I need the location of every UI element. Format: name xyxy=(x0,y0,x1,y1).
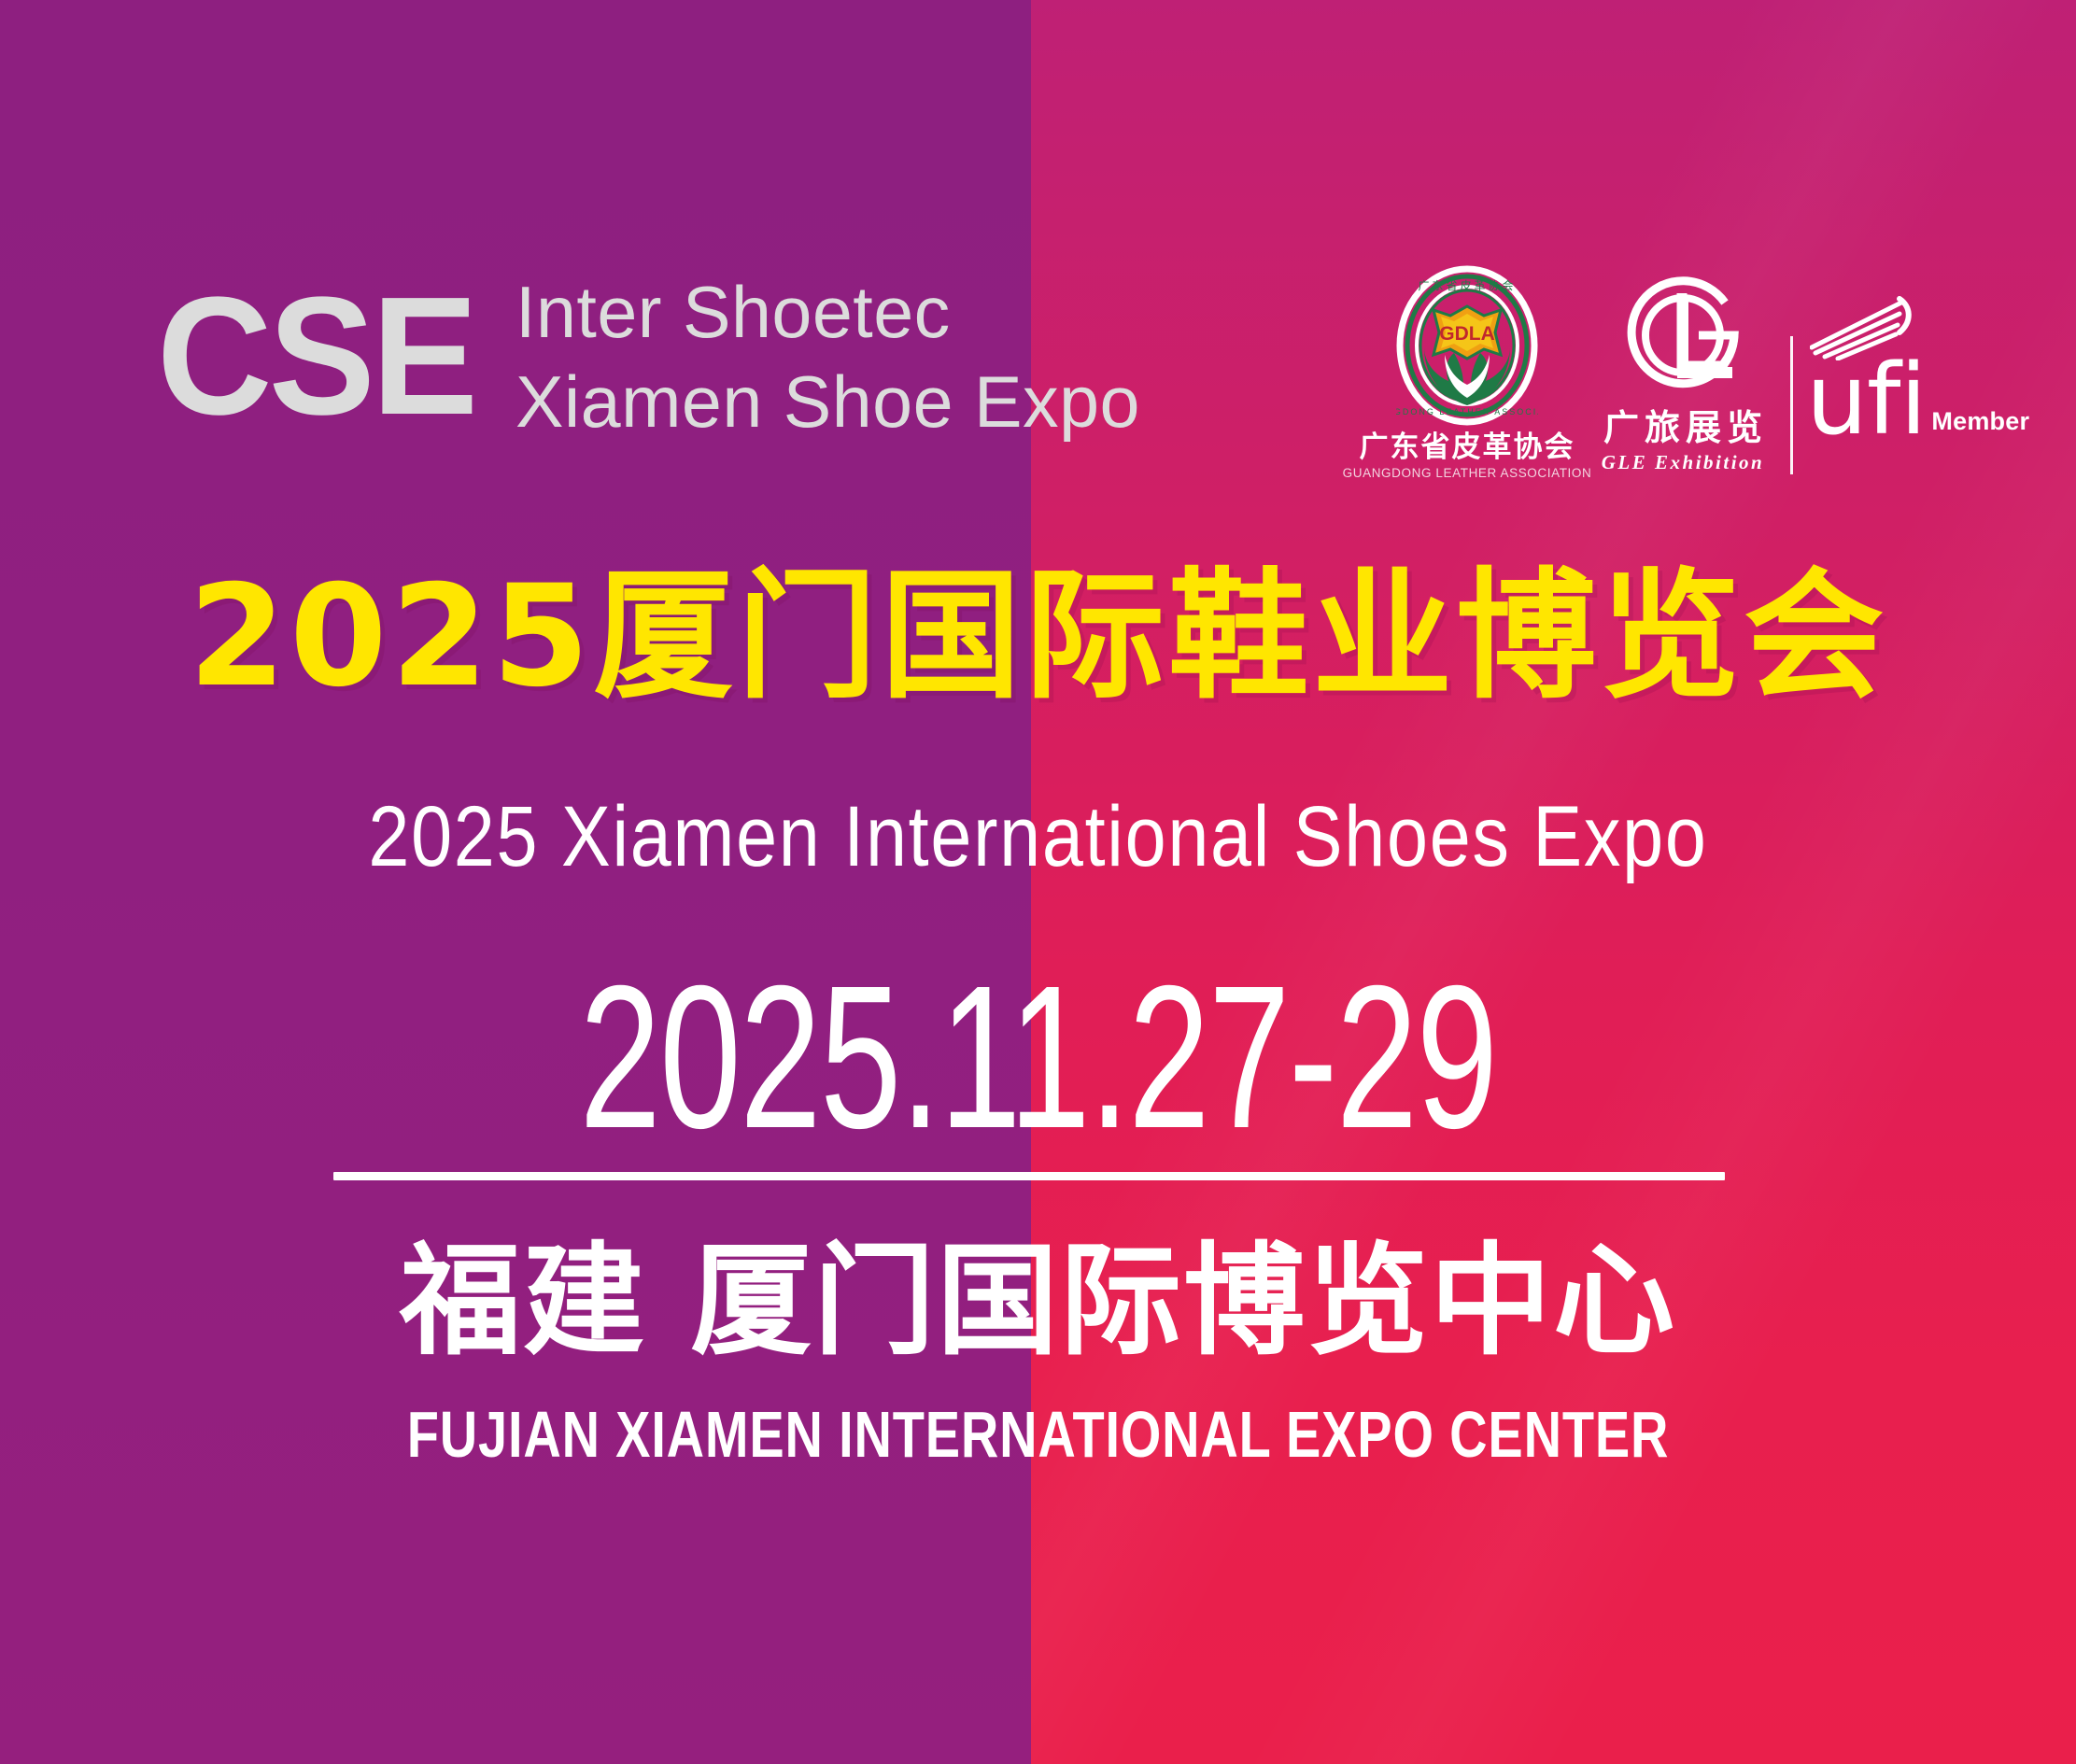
svg-text:GUANGDONG LEATHER ASSOCIATION: GUANGDONG LEATHER ASSOCIATION xyxy=(1396,407,1538,416)
cse-subtitle-line-1: Inter Shoetec xyxy=(515,267,1140,357)
header-row: CSE Inter Shoetec Xiamen Shoe Expo xyxy=(0,267,2076,491)
svg-text:GDLA: GDLA xyxy=(1439,323,1495,345)
partner-logo-cluster: GDLA 广东省皮革协会 GUANGDONG LEATHER ASSOCIATI… xyxy=(1359,265,1974,489)
cse-subtitle-line-2: Xiamen Shoe Expo xyxy=(515,357,1140,446)
ufi-wordmark: ufi xyxy=(1806,355,1926,445)
event-date: 2025.11.27-29 xyxy=(290,960,1786,1156)
ufi-wordmark-row: ufi Member xyxy=(1806,355,2029,445)
venue-name-chinese: 福建 厦门国际博览中心 xyxy=(0,1233,2076,1369)
horizontal-divider xyxy=(333,1172,1725,1180)
poster-root: CSE Inter Shoetec Xiamen Shoe Expo xyxy=(0,0,2076,1764)
gle-monogram-icon xyxy=(1613,265,1753,405)
venue-name-english: FUJIAN XIAMEN INTERNATIONAL EXPO CENTER xyxy=(207,1398,1868,1471)
gdla-chinese-name: 广东省皮革协会 xyxy=(1360,431,1575,463)
cse-wordmark: CSE xyxy=(157,273,474,441)
logo-divider xyxy=(1790,336,1793,474)
event-title-english: 2025 Xiamen International Shoes Expo xyxy=(146,788,1931,885)
cse-subtitle-group: Inter Shoetec Xiamen Shoe Expo xyxy=(515,267,1147,446)
gdla-logo: GDLA 广东省皮革协会 GUANGDONG LEATHER ASSOCIATI… xyxy=(1359,265,1575,481)
cse-logo-block: CSE Inter Shoetec Xiamen Shoe Expo xyxy=(157,267,1147,446)
gle-chinese-name: 广旅展览 xyxy=(1598,407,1768,448)
event-title-chinese: 2025厦门国际鞋业博览会 xyxy=(0,558,2076,715)
svg-text:广东省皮革协会: 广东省皮革协会 xyxy=(1418,278,1516,292)
ufi-member-label: Member xyxy=(1931,407,2029,435)
gle-english-name: GLE Exhibition xyxy=(1602,450,1764,474)
ufi-logo: ufi Member xyxy=(1806,265,1974,445)
gle-logo: 广旅展览 GLE Exhibition xyxy=(1581,265,1785,474)
gdla-seal-icon: GDLA 广东省皮革协会 GUANGDONG LEATHER ASSOCIATI… xyxy=(1396,265,1538,426)
gdla-english-name: GUANGDONG LEATHER ASSOCIATION xyxy=(1343,466,1592,481)
